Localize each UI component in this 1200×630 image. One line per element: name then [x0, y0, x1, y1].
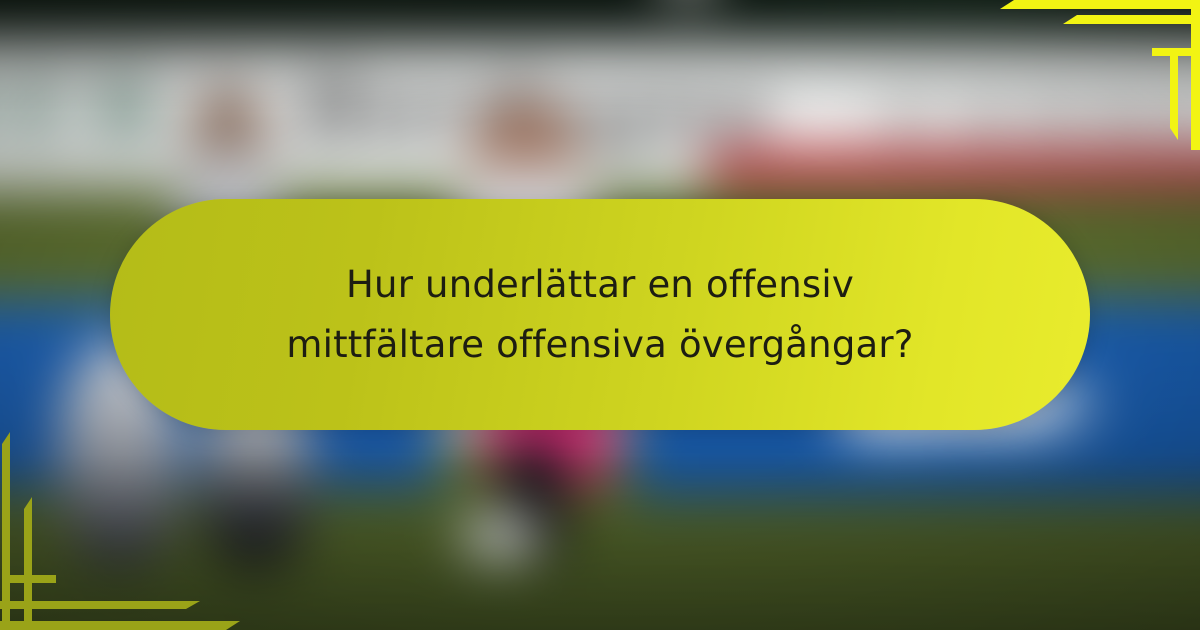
ornament-hook — [10, 575, 56, 583]
ornament-vertical-long — [2, 432, 10, 630]
ornament-bar-long — [0, 621, 240, 630]
ornament-vertical-short — [24, 497, 32, 630]
ornament-bar-short — [1063, 15, 1200, 24]
question-text: Hur underlättar en offensiv mittfältare … — [158, 255, 1042, 373]
question-card: Hur underlättar en offensiv mittfältare … — [110, 199, 1090, 430]
ornament-bar-long — [1000, 0, 1200, 9]
ornament-bar-short — [0, 601, 200, 609]
ornament-stem — [1170, 48, 1178, 140]
ornament-outer-vertical-rule — [1191, 0, 1200, 150]
social-card-canvas: BER Bordogna CASSI — [0, 0, 1200, 630]
